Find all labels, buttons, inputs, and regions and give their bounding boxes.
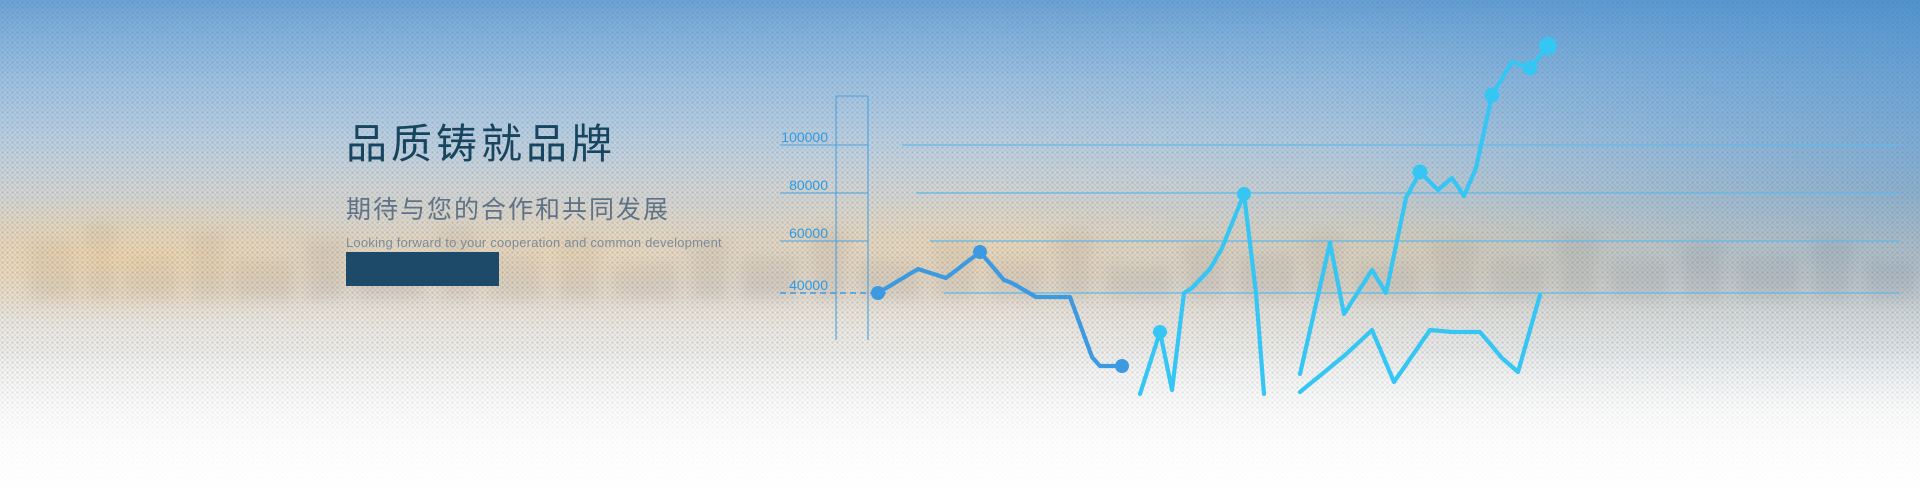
data-point-marker	[1523, 61, 1538, 76]
data-point-marker	[1485, 88, 1500, 103]
data-point-marker	[871, 286, 885, 300]
y-axis-tick-labels: 100000 80000 60000 40000	[781, 129, 828, 293]
data-point-marker	[1237, 187, 1251, 201]
series-2-line	[1140, 187, 1264, 394]
data-point-marker	[1115, 359, 1129, 373]
line-chart: 100000 80000 60000 40000	[740, 0, 1920, 500]
cta-button[interactable]	[346, 252, 499, 286]
data-point-marker	[1153, 325, 1167, 339]
hero-banner: 品质铸就品牌 期待与您的合作和共同发展 Looking forward to y…	[0, 0, 1920, 500]
series-3-line	[1300, 37, 1557, 374]
y-tick-label-1: 80000	[789, 177, 828, 193]
data-point-marker	[973, 245, 987, 259]
y-tick-label-3: 40000	[789, 277, 828, 293]
data-point-marker	[1539, 37, 1557, 55]
chart-svg: 100000 80000 60000 40000	[740, 0, 1920, 500]
series-4-line	[1300, 295, 1540, 392]
series-1-line	[871, 245, 1129, 373]
gridlines	[780, 145, 1900, 293]
y-tick-label-0: 100000	[781, 129, 828, 145]
y-tick-label-2: 60000	[789, 225, 828, 241]
data-point-marker	[1413, 165, 1428, 180]
